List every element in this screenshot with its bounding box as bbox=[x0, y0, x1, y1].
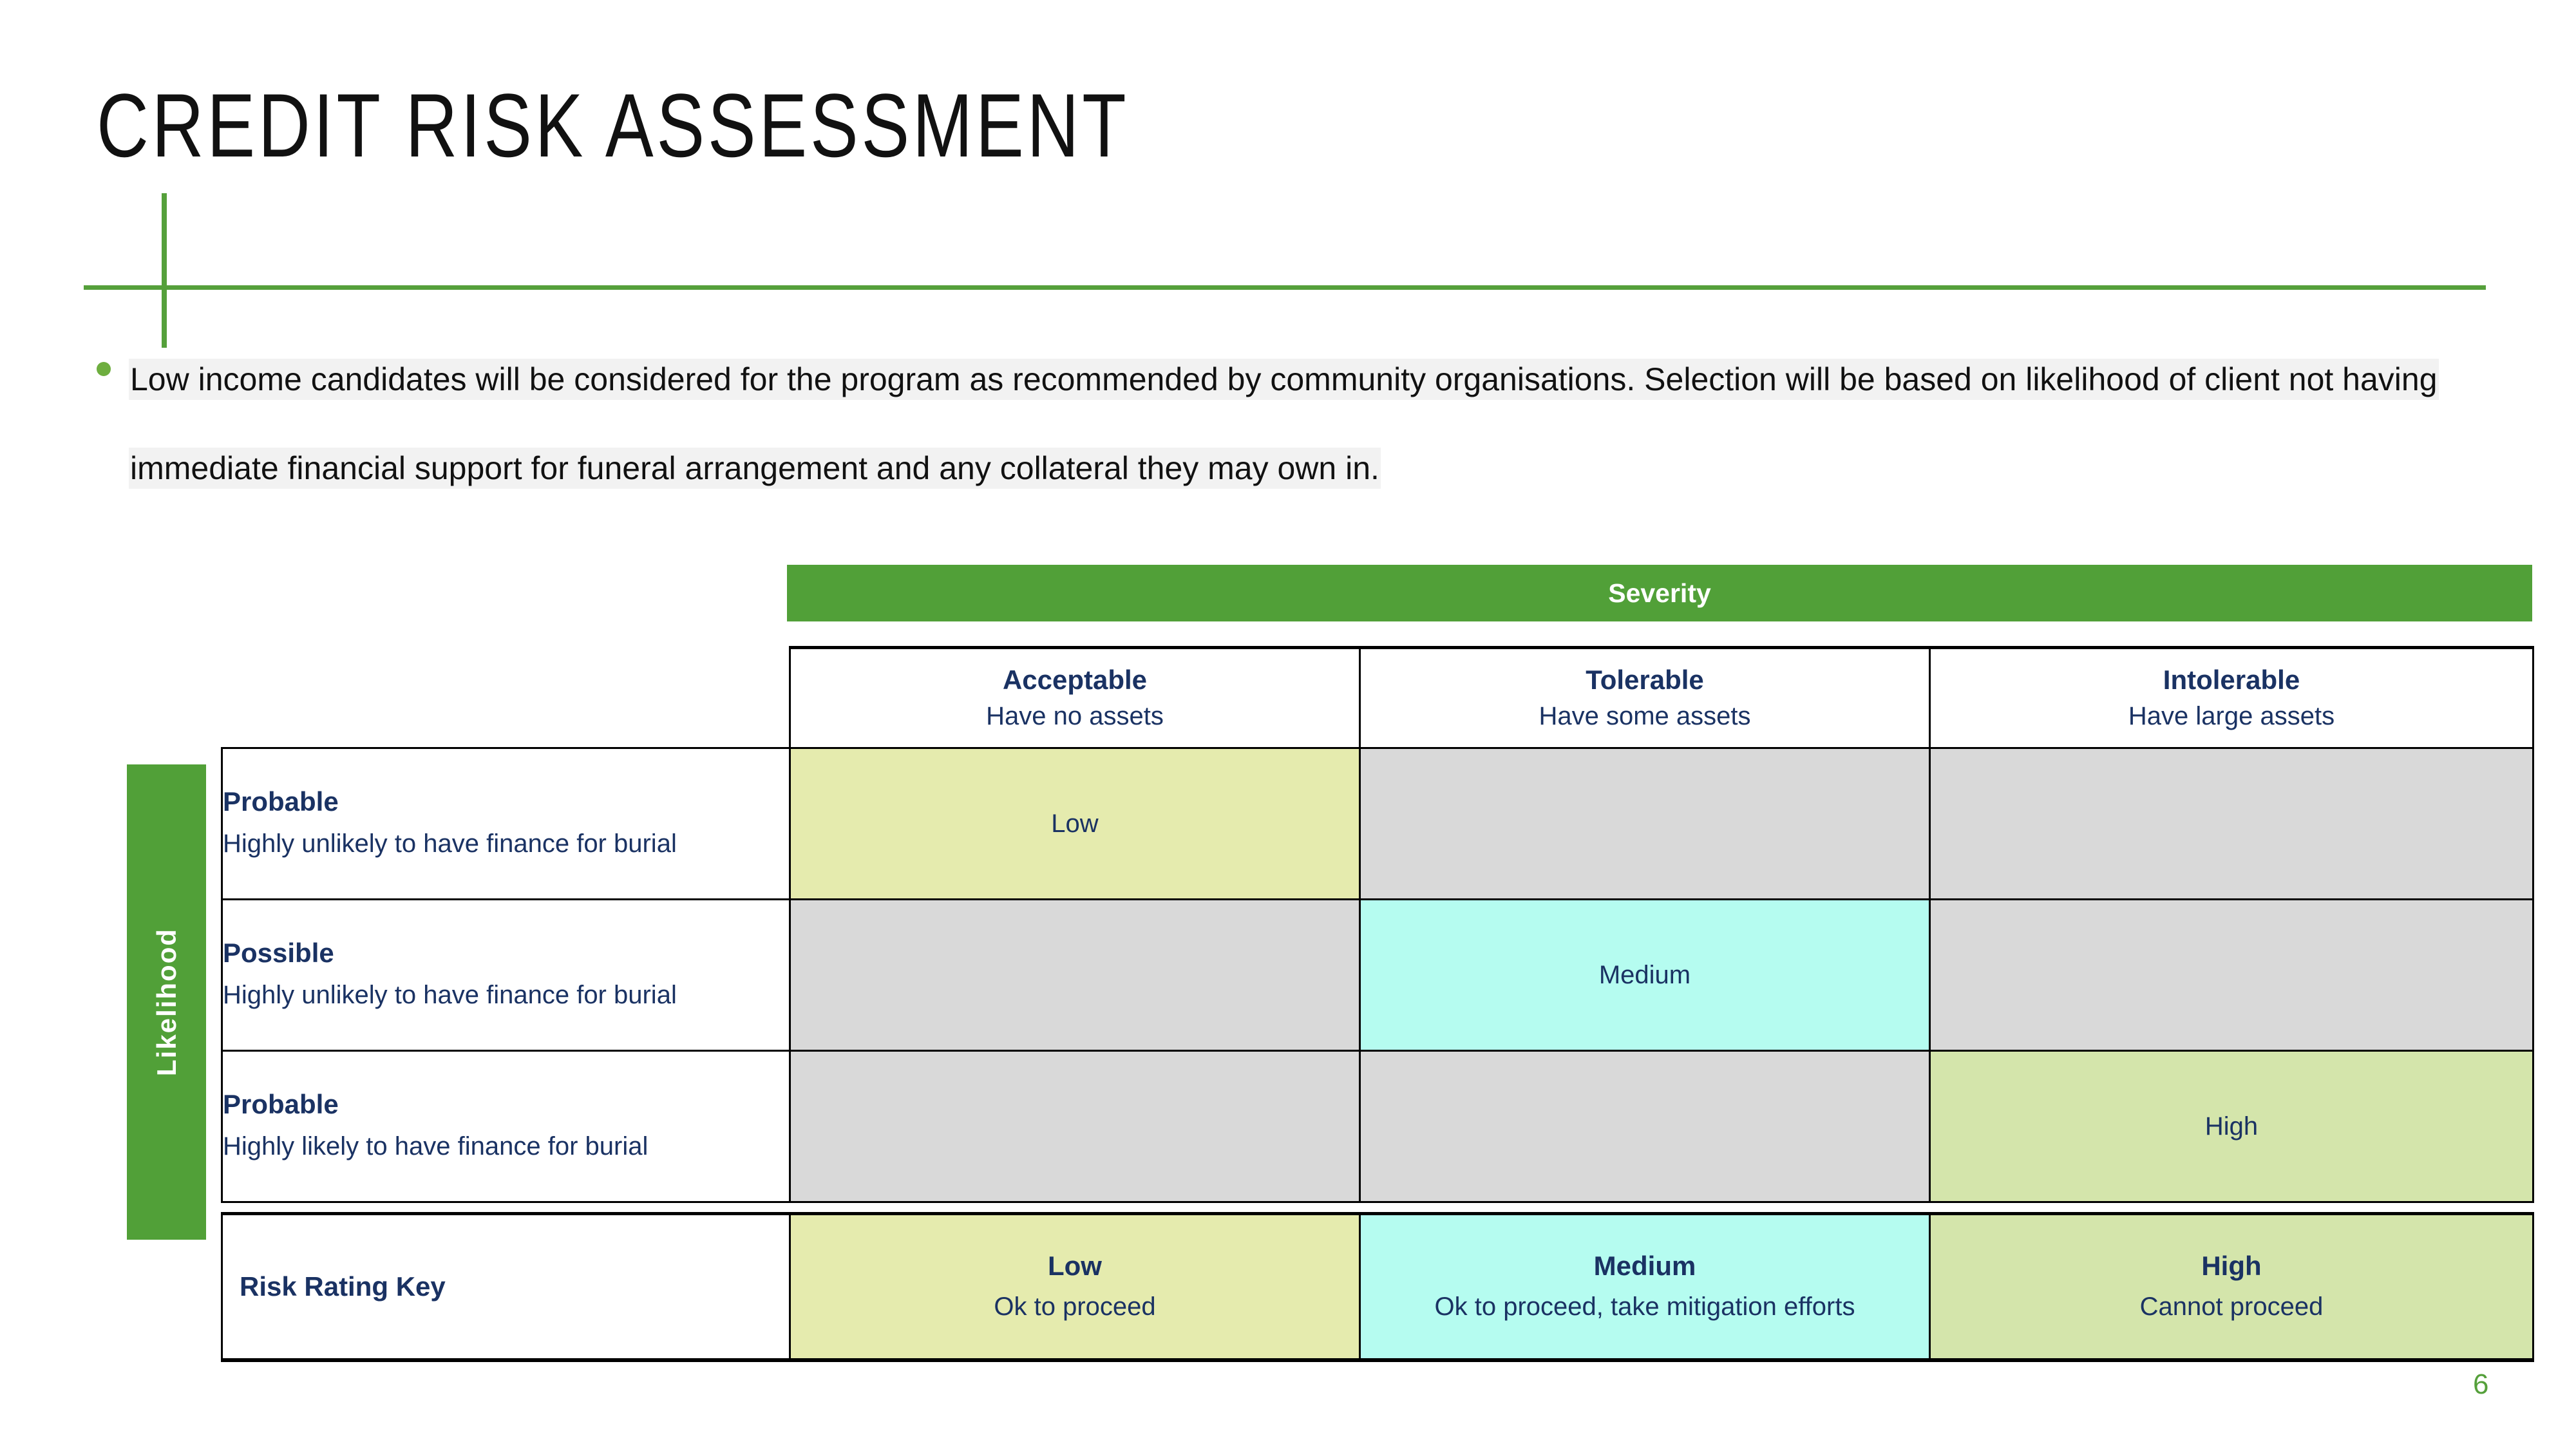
column-header-intolerable-title: Intolerable bbox=[1931, 662, 2532, 698]
matrix-cell-r1c1: Low bbox=[790, 748, 1360, 900]
matrix-cell-r2c1 bbox=[790, 900, 1360, 1051]
row-header-description: Highly likely to have finance for burial bbox=[223, 1124, 789, 1168]
matrix-cell-r3c3: High bbox=[1930, 1051, 2533, 1202]
row-header-title: Probable bbox=[223, 782, 789, 822]
severity-header-label: Severity bbox=[1608, 578, 1711, 609]
matrix-cell-r3c2 bbox=[1360, 1051, 1930, 1202]
title-accent-vertical-rule bbox=[162, 193, 167, 348]
risk-key-medium-title: Medium bbox=[1361, 1246, 1929, 1286]
matrix-cell-r1c2 bbox=[1360, 748, 1930, 900]
matrix-cell-r2c3 bbox=[1930, 900, 2533, 1051]
risk-key-medium-subtitle: Ok to proceed, take mitigation efforts bbox=[1361, 1286, 1929, 1327]
risk-key-low-subtitle: Ok to proceed bbox=[791, 1286, 1359, 1327]
risk-rating-key-row: Risk Rating Key Low Ok to proceed Medium… bbox=[222, 1214, 2533, 1361]
risk-key-high: High Cannot proceed bbox=[1930, 1214, 2533, 1361]
column-header-acceptable-subtitle: Have no assets bbox=[791, 698, 1359, 734]
severity-header-bar: Severity bbox=[787, 565, 2532, 621]
row-header-title: Probable bbox=[223, 1084, 789, 1124]
risk-key-high-title: High bbox=[1931, 1246, 2532, 1286]
matrix-row: Possible Highly unlikely to have finance… bbox=[222, 900, 2533, 1051]
row-header-description: Highly unlikely to have finance for buri… bbox=[223, 973, 789, 1017]
risk-rating-key-label: Risk Rating Key bbox=[240, 1271, 446, 1302]
risk-key-low: Low Ok to proceed bbox=[790, 1214, 1360, 1361]
column-header-tolerable: Tolerable Have some assets bbox=[1360, 648, 1930, 748]
row-header-possible-unlikely: Possible Highly unlikely to have finance… bbox=[222, 900, 790, 1051]
row-header-description: Highly unlikely to have finance for buri… bbox=[223, 822, 789, 866]
matrix-cell-r2c2: Medium bbox=[1360, 900, 1930, 1051]
column-header-intolerable-subtitle: Have large assets bbox=[1931, 698, 2532, 734]
column-header-acceptable: Acceptable Have no assets bbox=[790, 648, 1360, 748]
likelihood-header-label: Likelihood bbox=[151, 928, 182, 1076]
spacer-cell bbox=[790, 1202, 1360, 1214]
risk-rating-key-label-cell: Risk Rating Key bbox=[222, 1214, 790, 1361]
spacer-cell bbox=[1930, 1202, 2533, 1214]
column-header-tolerable-subtitle: Have some assets bbox=[1361, 698, 1929, 734]
body-paragraph: Low income candidates will be considered… bbox=[129, 335, 2467, 513]
risk-matrix-table: Acceptable Have no assets Tolerable Have… bbox=[221, 646, 2534, 1362]
risk-key-high-subtitle: Cannot proceed bbox=[1931, 1286, 2532, 1327]
matrix-column-header-row: Acceptable Have no assets Tolerable Have… bbox=[222, 648, 2533, 748]
matrix-cell-r3c1 bbox=[790, 1051, 1360, 1202]
row-header-probable-unlikely: Probable Highly unlikely to have finance… bbox=[222, 748, 790, 900]
page-number: 6 bbox=[2473, 1368, 2488, 1401]
matrix-key-spacer bbox=[222, 1202, 2533, 1214]
spacer-cell bbox=[1360, 1202, 1930, 1214]
spacer-cell bbox=[222, 1202, 790, 1214]
column-header-intolerable: Intolerable Have large assets bbox=[1930, 648, 2533, 748]
risk-key-medium: Medium Ok to proceed, take mitigation ef… bbox=[1360, 1214, 1930, 1361]
likelihood-header-bar: Likelihood bbox=[127, 764, 206, 1240]
matrix-row: Probable Highly likely to have finance f… bbox=[222, 1051, 2533, 1202]
column-header-acceptable-title: Acceptable bbox=[791, 662, 1359, 698]
matrix-corner-cell bbox=[222, 648, 790, 748]
row-header-probable-likely: Probable Highly likely to have finance f… bbox=[222, 1051, 790, 1202]
column-header-tolerable-title: Tolerable bbox=[1361, 662, 1929, 698]
row-header-title: Possible bbox=[223, 933, 789, 973]
risk-key-low-title: Low bbox=[791, 1246, 1359, 1286]
matrix-cell-r1c3 bbox=[1930, 748, 2533, 900]
body-paragraph-text: Low income candidates will be considered… bbox=[129, 359, 2439, 489]
title-underline-rule bbox=[84, 285, 2486, 290]
page-title: Credit Risk Assessment bbox=[97, 77, 1129, 174]
matrix-row: Probable Highly unlikely to have finance… bbox=[222, 748, 2533, 900]
bullet-point-icon bbox=[97, 362, 111, 376]
